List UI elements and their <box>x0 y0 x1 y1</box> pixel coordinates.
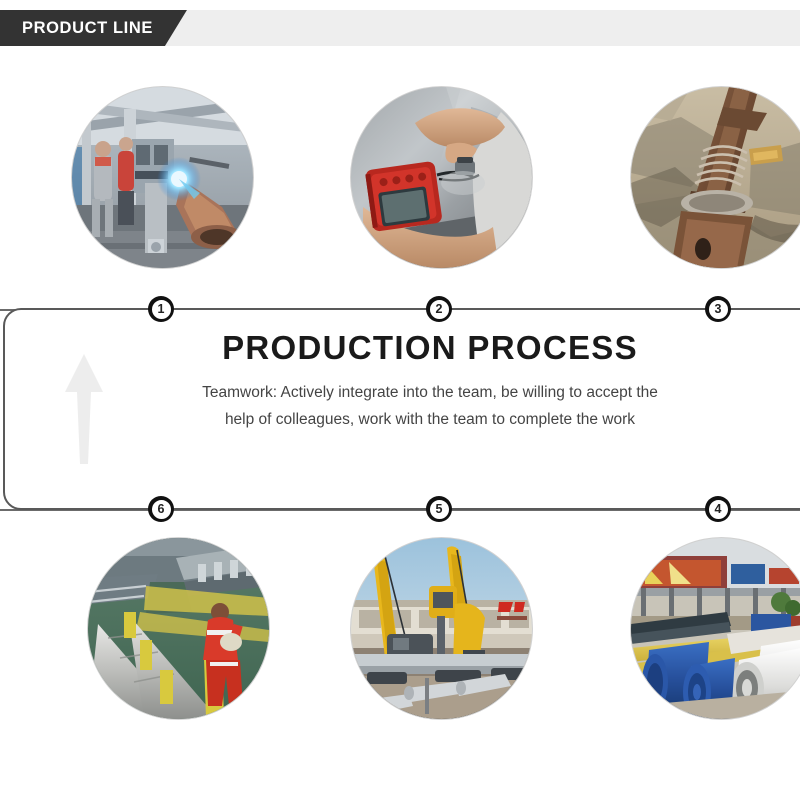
step-marker-2[interactable]: 2 <box>426 296 452 322</box>
step-marker-6-number: 6 <box>151 499 172 520</box>
step-marker-6[interactable]: 6 <box>148 496 174 522</box>
photo-deck-pipe-handling <box>88 538 269 719</box>
product-line-banner: PRODUCT LINE <box>0 10 187 46</box>
product-line-label: PRODUCT LINE <box>22 19 153 38</box>
photo-drill-shaft-component <box>631 87 800 268</box>
photo-welding-workshop <box>72 87 253 268</box>
step-marker-2-number: 2 <box>429 299 450 320</box>
photo-drill-shaft-component-image <box>631 87 800 268</box>
step-marker-1[interactable]: 1 <box>148 296 174 322</box>
photo-ultrasonic-inspection-image <box>351 87 532 268</box>
step-marker-5-number: 5 <box>429 499 450 520</box>
up-arrow-icon-shape <box>62 352 106 470</box>
process-text-block: PRODUCTION PROCESS Teamwork: Actively in… <box>180 330 680 434</box>
step-marker-4[interactable]: 4 <box>705 496 731 522</box>
step-marker-3[interactable]: 3 <box>705 296 731 322</box>
step-marker-5[interactable]: 5 <box>426 496 452 522</box>
step-marker-1-number: 1 <box>151 299 172 320</box>
up-arrow-icon <box>62 352 106 470</box>
photo-finished-pipe-products <box>631 538 800 719</box>
photo-welding-workshop-image <box>72 87 253 268</box>
photo-yellow-drilling-rigs <box>351 538 532 719</box>
process-title: PRODUCTION PROCESS <box>180 330 680 366</box>
photo-deck-pipe-handling-image <box>88 538 269 719</box>
process-description: Teamwork: Actively integrate into the te… <box>180 380 680 433</box>
step-marker-3-number: 3 <box>708 299 729 320</box>
photo-finished-pipe-products-image <box>631 538 800 719</box>
step-marker-4-number: 4 <box>708 499 729 520</box>
photo-yellow-drilling-rigs-image <box>351 538 532 719</box>
photo-ultrasonic-inspection <box>351 87 532 268</box>
